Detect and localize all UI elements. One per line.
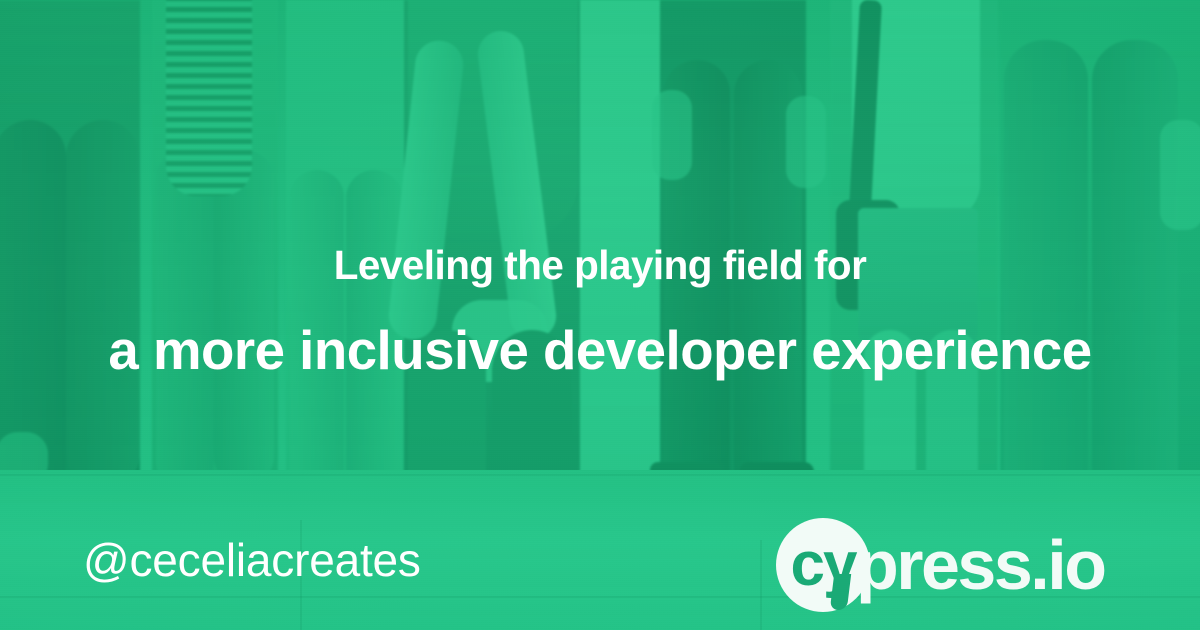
card-title-line-1: Leveling the playing field for (0, 222, 1200, 308)
card-title-line-2: a more inclusive developer experience (0, 308, 1200, 394)
cypress-logo[interactable]: cy press.io (772, 512, 1142, 612)
author-handle: @ceceliacreates (83, 534, 421, 586)
card-content: Leveling the playing field for a more in… (0, 0, 1200, 630)
card-title: Leveling the playing field for a more in… (0, 222, 1200, 394)
cypress-logo-wordmark: press.io (856, 518, 1104, 612)
social-share-card: Leveling the playing field for a more in… (0, 0, 1200, 630)
